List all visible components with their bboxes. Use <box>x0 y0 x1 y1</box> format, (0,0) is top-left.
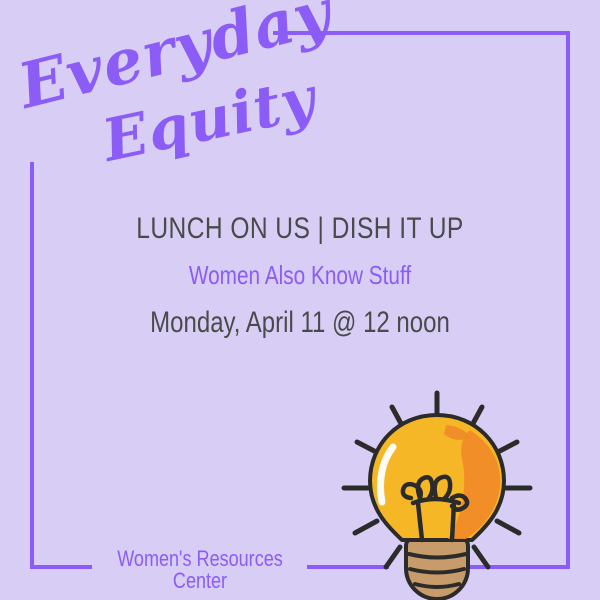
poster-canvas: Everyday Equity LUNCH ON US | DISH IT UP… <box>0 0 600 600</box>
light-bulb-icon <box>330 385 545 600</box>
frame-line-top <box>273 31 570 35</box>
light-bulb-base <box>406 537 468 599</box>
event-details: LUNCH ON US | DISH IT UP Women Also Know… <box>0 212 600 339</box>
brand-title: Everyday Equity <box>24 34 324 174</box>
event-dateline: Monday, April 11 @ 12 noon <box>60 306 540 339</box>
event-subhead: Women Also Know Stuff <box>60 261 540 290</box>
event-headline: LUNCH ON US | DISH IT UP <box>54 212 546 245</box>
organization-name: Women's Resources Center <box>111 548 288 592</box>
frame-line-bottom-left <box>30 565 92 569</box>
brand-title-line-2: Equity <box>98 68 321 170</box>
brand-title-line-1: Everyday <box>13 0 337 118</box>
